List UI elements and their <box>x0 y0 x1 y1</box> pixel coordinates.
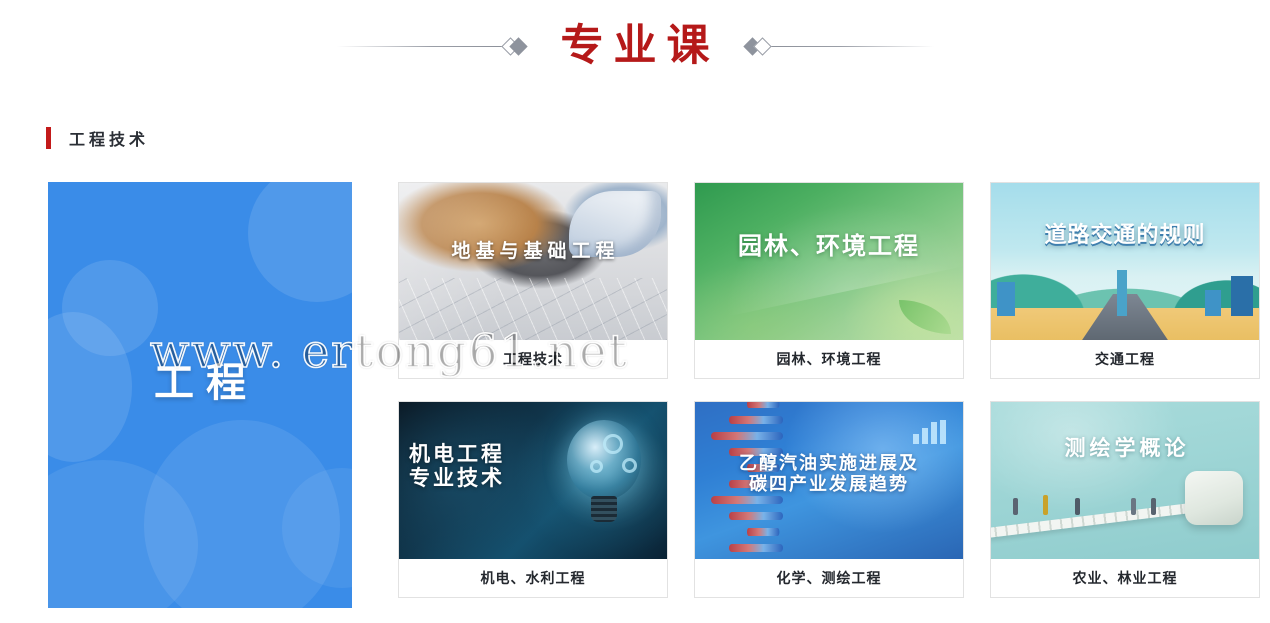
gear-icon <box>603 434 623 454</box>
course-thumbnail-landscape-environment: 园林、环境工程 <box>695 183 963 340</box>
section-accent-bar <box>46 127 51 149</box>
section-header: 工程技术 <box>46 125 149 151</box>
tower-illustration <box>1117 270 1127 316</box>
course-card-caption: 化学、测绘工程 <box>695 559 963 597</box>
course-card[interactable]: 测绘学概论 农业、林业工程 <box>990 401 1260 598</box>
gear-icon <box>622 458 637 473</box>
building-illustration <box>1231 276 1253 316</box>
thumbnail-title: 园林、环境工程 <box>695 233 963 261</box>
course-thumbnail-chemistry-surveying: 乙醇汽油实施进展及 碳四产业发展趋势 <box>695 402 963 559</box>
course-card-caption: 机电、水利工程 <box>399 559 667 597</box>
page-title-block: 专业课 <box>0 0 1270 92</box>
measuring-tape-illustration <box>991 502 1201 538</box>
ornament-line-left <box>337 46 507 47</box>
course-card-caption: 农业、林业工程 <box>991 559 1259 597</box>
section-title: 工程技术 <box>69 126 149 150</box>
figurine-illustration <box>1075 498 1080 515</box>
course-thumbnail-traffic-rules: 道路交通的规则 <box>991 183 1259 340</box>
thumbnail-title-line2: 碳四产业发展趋势 <box>695 475 963 496</box>
page-root: 专业课 工程技术 工程 地基与基础工程 <box>0 0 1270 623</box>
course-card-caption: 交通工程 <box>991 340 1259 378</box>
course-card[interactable]: 道路交通的规则 交通工程 <box>990 182 1260 379</box>
page-title: 专业课 <box>525 25 746 68</box>
course-card[interactable]: 乙醇汽油实施进展及 碳四产业发展趋势 化学、测绘工程 <box>694 401 964 598</box>
course-card[interactable]: 地基与基础工程 工程技术 <box>398 182 668 379</box>
course-card-caption: 工程技术 <box>399 340 667 378</box>
course-thumbnail-foundation-engineering: 地基与基础工程 <box>399 183 667 340</box>
course-card-grid: 地基与基础工程 工程技术 园林、环境工程 园林、环境工程 <box>398 182 1260 608</box>
figurine-illustration <box>1131 498 1136 515</box>
title-ornament-left <box>337 34 525 58</box>
ornament-line-right <box>764 46 934 47</box>
figurine-illustration <box>1013 498 1018 515</box>
content-area: 工程 地基与基础工程 工程技术 园林、环境工程 园林、环境工程 <box>48 182 1260 608</box>
course-card-caption: 园林、环境工程 <box>695 340 963 378</box>
hero-banner[interactable]: 工程 <box>48 182 352 608</box>
building-illustration <box>997 282 1015 316</box>
thumbnail-title-line1: 机电工程 <box>409 442 505 466</box>
course-thumbnail-surveying-overview: 测绘学概论 <box>991 402 1259 559</box>
thumbnail-title-line1: 乙醇汽油实施进展及 <box>695 454 963 475</box>
thumbnail-title: 机电工程 专业技术 <box>409 442 505 490</box>
figurine-illustration <box>1043 495 1048 515</box>
thumbnail-title: 乙醇汽油实施进展及 碳四产业发展趋势 <box>695 454 963 495</box>
thumbnail-title: 道路交通的规则 <box>991 223 1259 248</box>
thumbnail-title: 测绘学概论 <box>991 436 1259 460</box>
bar-chart-icon <box>913 420 947 444</box>
title-ornament-right <box>746 34 934 58</box>
gear-icon <box>590 460 603 473</box>
figurine-illustration <box>1151 498 1156 515</box>
hero-label: 工程 <box>48 350 352 408</box>
decorative-circle <box>248 182 352 302</box>
building-illustration <box>1205 290 1221 316</box>
tape-reel-illustration <box>1185 471 1243 525</box>
course-card[interactable]: 机电工程 专业技术 机电、水利工程 <box>398 401 668 598</box>
thumbnail-title: 地基与基础工程 <box>399 241 667 263</box>
thumbnail-title-line2: 专业技术 <box>409 466 505 490</box>
course-thumbnail-electromechanical: 机电工程 专业技术 <box>399 402 667 559</box>
course-card[interactable]: 园林、环境工程 园林、环境工程 <box>694 182 964 379</box>
